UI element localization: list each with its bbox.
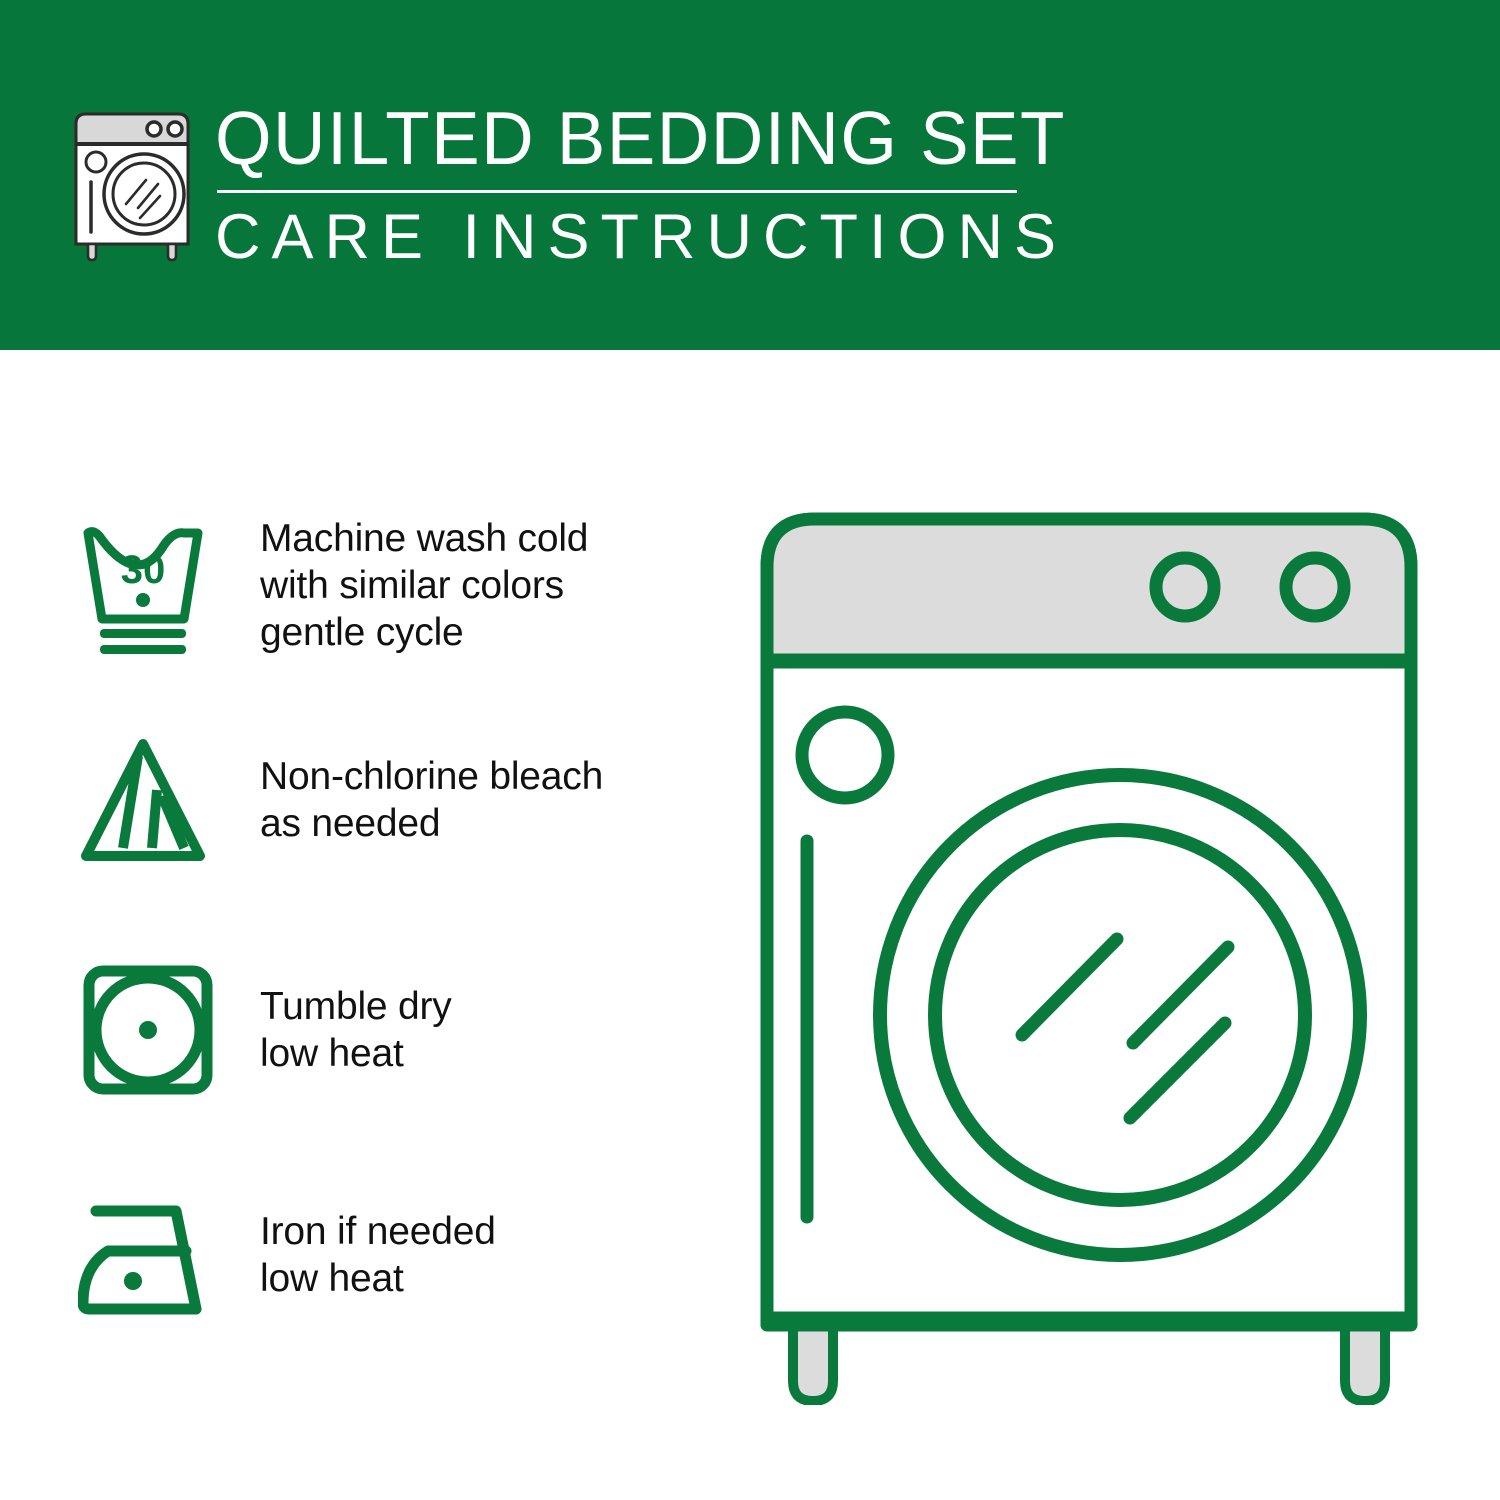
content-area: 30 Machine wash cold with similar colors… (0, 350, 1500, 1500)
care-instruction-label: Tumble dry low heat (235, 983, 730, 1077)
care-instruction-item: Non-chlorine bleach as needed (70, 725, 730, 875)
bleach-triangle-icon (70, 725, 235, 875)
care-instruction-label: Iron if needed low heat (235, 1208, 730, 1302)
washing-machine-illustration (745, 505, 1445, 1405)
care-instruction-item: 30 Machine wash cold with similar colors… (70, 510, 730, 660)
iron-icon (70, 1180, 235, 1330)
care-instruction-item: Iron if needed low heat (70, 1180, 730, 1330)
wash-tub-30-icon: 30 (70, 510, 235, 660)
header-banner: QUILTED BEDDING SET CARE INSTRUCTIONS (0, 0, 1500, 350)
page-subtitle: CARE INSTRUCTIONS (215, 203, 1025, 271)
washing-machine-icon (62, 104, 202, 264)
header-text-block: QUILTED BEDDING SET CARE INSTRUCTIONS (215, 98, 1025, 271)
svg-text:30: 30 (120, 548, 165, 592)
page-title: QUILTED BEDDING SET (215, 98, 1001, 178)
header-divider (217, 190, 1017, 193)
tumble-dry-icon (70, 955, 235, 1105)
care-instruction-item: Tumble dry low heat (70, 955, 730, 1105)
care-instruction-label: Machine wash cold with similar colors ge… (235, 515, 730, 656)
care-instruction-label: Non-chlorine bleach as needed (235, 753, 730, 847)
